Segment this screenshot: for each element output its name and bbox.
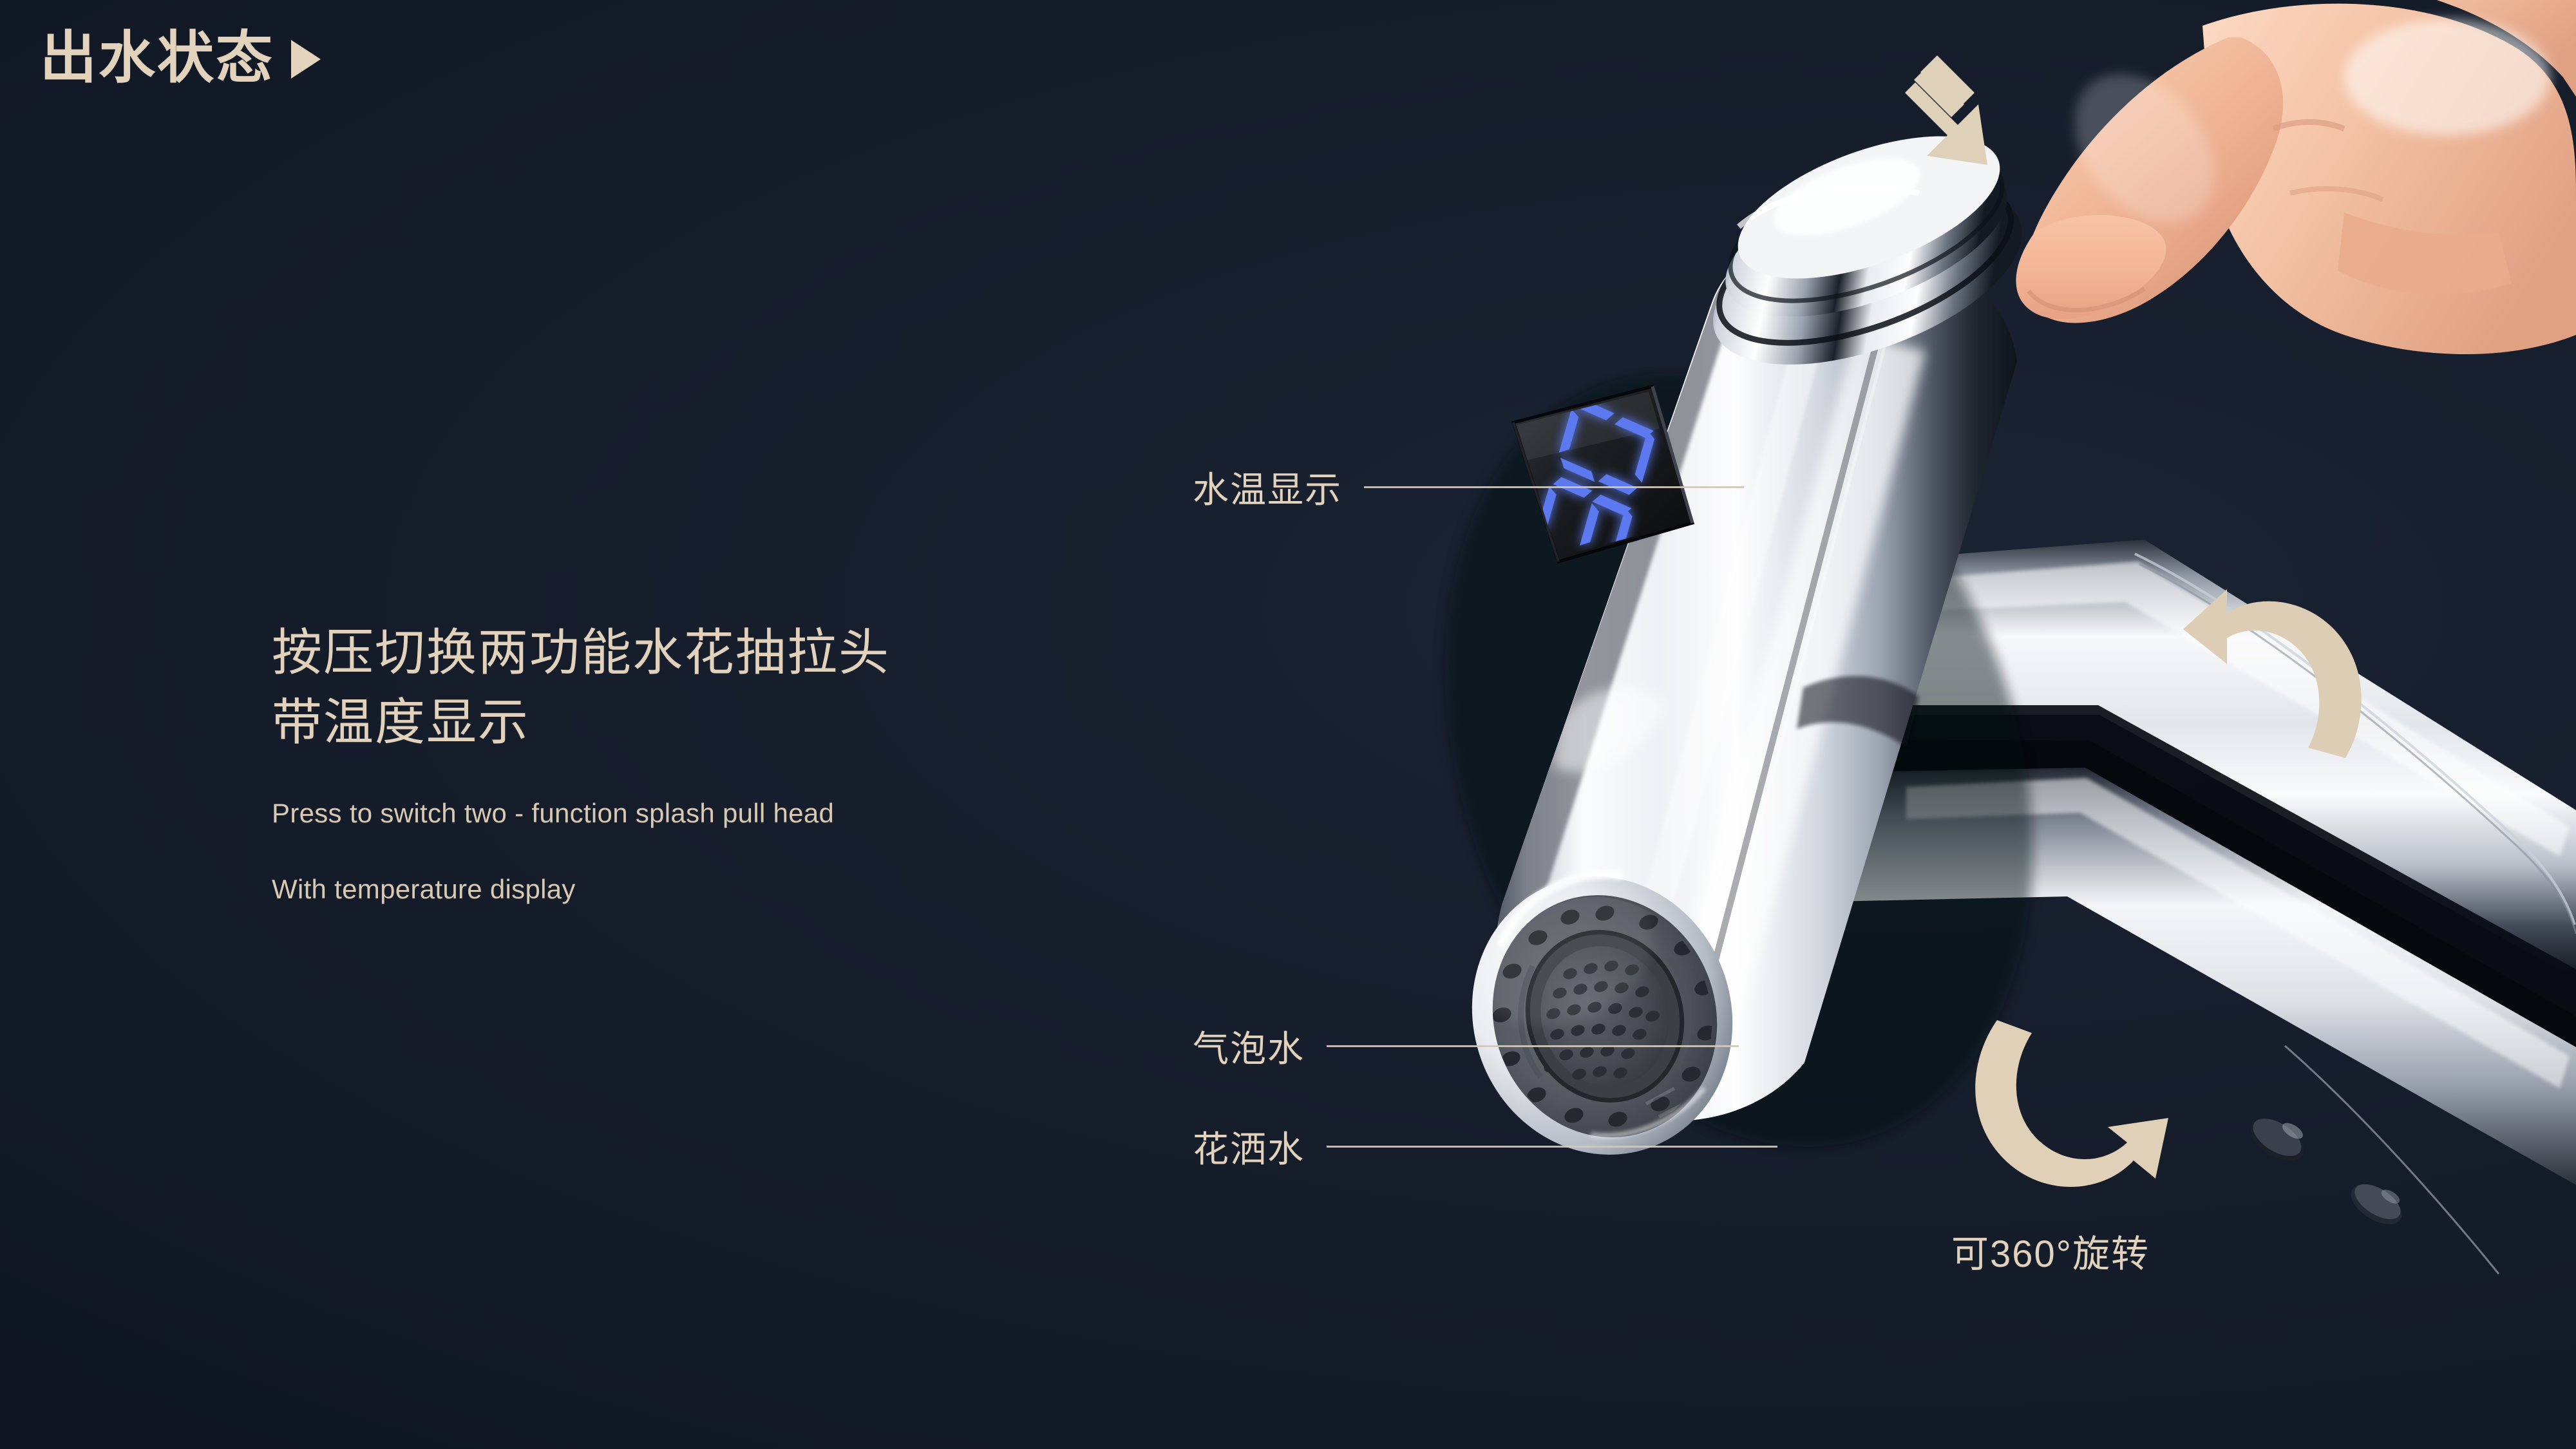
feature-copy-block: 按压切换两功能水花抽拉头 带温度显示 Press to switch two -…: [272, 618, 890, 909]
hand-pressing-illustration: [2016, 0, 2576, 354]
product-feature-slide: 出水状态 按压切换两功能水花抽拉头 带温度显示 Press to switch …: [0, 0, 2576, 1449]
play-triangle-icon: [291, 40, 321, 79]
headline-line-2: 带温度显示: [272, 688, 890, 757]
rotation-caption: 可360°旋转: [1951, 1224, 2150, 1278]
page-title: 出水状态: [40, 30, 274, 86]
subtitle-line-1: Press to switch two - function splash pu…: [272, 794, 890, 833]
callout-label: 气泡水: [1193, 1020, 1305, 1072]
shower-hole-inner-ring: [1524, 933, 1685, 1098]
subtitle-line-2: With temperature display: [272, 870, 890, 909]
rotate-clockwise-arrow-icon: [1961, 997, 2193, 1209]
callout-leader-line: [1327, 1045, 1739, 1047]
callout-label: 水温显示: [1193, 461, 1342, 513]
rotate-counterclockwise-arrow-icon: [2177, 583, 2389, 770]
callout-water-temperature: 水温显示: [1193, 461, 1744, 513]
shower-hole-ring: [1490, 904, 1718, 1130]
callout-label: 花洒水: [1193, 1121, 1305, 1173]
headline-line-1: 按压切换两功能水花抽拉头: [272, 618, 890, 688]
callout-leader-line: [1327, 1146, 1777, 1148]
arm-detail-buttons: [2243, 1110, 2409, 1233]
slide-header: 出水状态: [40, 30, 321, 86]
press-down-arrow-icon: [1861, 45, 2029, 213]
callout-aerated-water: 气泡水: [1193, 1020, 1739, 1072]
callout-shower-water: 花洒水: [1193, 1121, 1777, 1173]
callout-leader-line: [1364, 486, 1744, 488]
